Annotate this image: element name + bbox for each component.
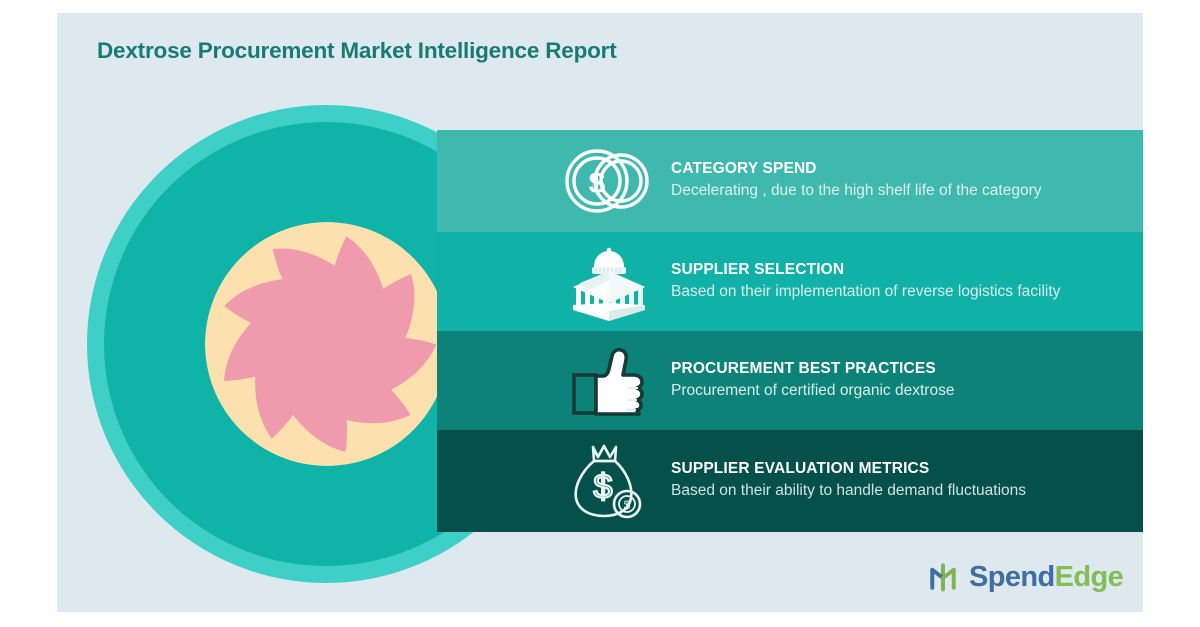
logo-text-spend: Spend (969, 561, 1055, 593)
insight-heading: SUPPLIER SELECTION (671, 260, 1060, 279)
insight-body: Decelerating , due to the high shelf lif… (671, 180, 1042, 202)
insight-band-evaluation-metrics: $ $ SUPPLIER EVALUATION METRICS Based on… (437, 430, 1143, 532)
infographic-canvas: Dextrose Procurement Market Intelligence… (0, 0, 1200, 627)
dextrose-candy-pinwheel-icon (205, 222, 449, 466)
svg-text:$: $ (589, 167, 606, 200)
insight-band-supplier-selection: SUPPLIER SELECTION Based on their implem… (437, 232, 1143, 331)
insight-body: Procurement of certified organic dextros… (671, 380, 954, 402)
svg-text:$: $ (624, 498, 631, 512)
insight-text: SUPPLIER SELECTION Based on their implem… (663, 260, 1074, 304)
insight-text: SUPPLIER EVALUATION METRICS Based on the… (663, 459, 1040, 503)
spendedge-wordmark: SpendEdge (969, 563, 1123, 592)
logo-text-edge: Edge (1055, 561, 1124, 593)
page-title: Dextrose Procurement Market Intelligence… (97, 38, 617, 64)
money-bag-icon: $ $ (555, 430, 663, 532)
insight-body: Based on their implementation of reverse… (671, 281, 1060, 303)
insight-band-category-spend: $ CATEGORY SPEND Decelerating , due to t… (437, 130, 1143, 232)
svg-text:$: $ (594, 468, 613, 506)
report-panel: Dextrose Procurement Market Intelligence… (57, 13, 1143, 612)
bank-building-icon (555, 232, 663, 331)
insight-text: PROCUREMENT BEST PRACTICES Procurement o… (663, 359, 968, 403)
thumbs-up-icon (555, 331, 663, 430)
insight-band-best-practices: PROCUREMENT BEST PRACTICES Procurement o… (437, 331, 1143, 430)
insight-text: CATEGORY SPEND Decelerating , due to the… (663, 159, 1056, 203)
spendedge-logo: SpendEdge (925, 560, 1123, 594)
spendedge-trident-icon (925, 560, 961, 594)
insight-body: Based on their ability to handle demand … (671, 480, 1026, 502)
insight-heading: SUPPLIER EVALUATION METRICS (671, 459, 1026, 478)
insight-heading: CATEGORY SPEND (671, 159, 1042, 178)
coins-dollar-icon: $ (555, 130, 663, 232)
insight-heading: PROCUREMENT BEST PRACTICES (671, 359, 954, 378)
